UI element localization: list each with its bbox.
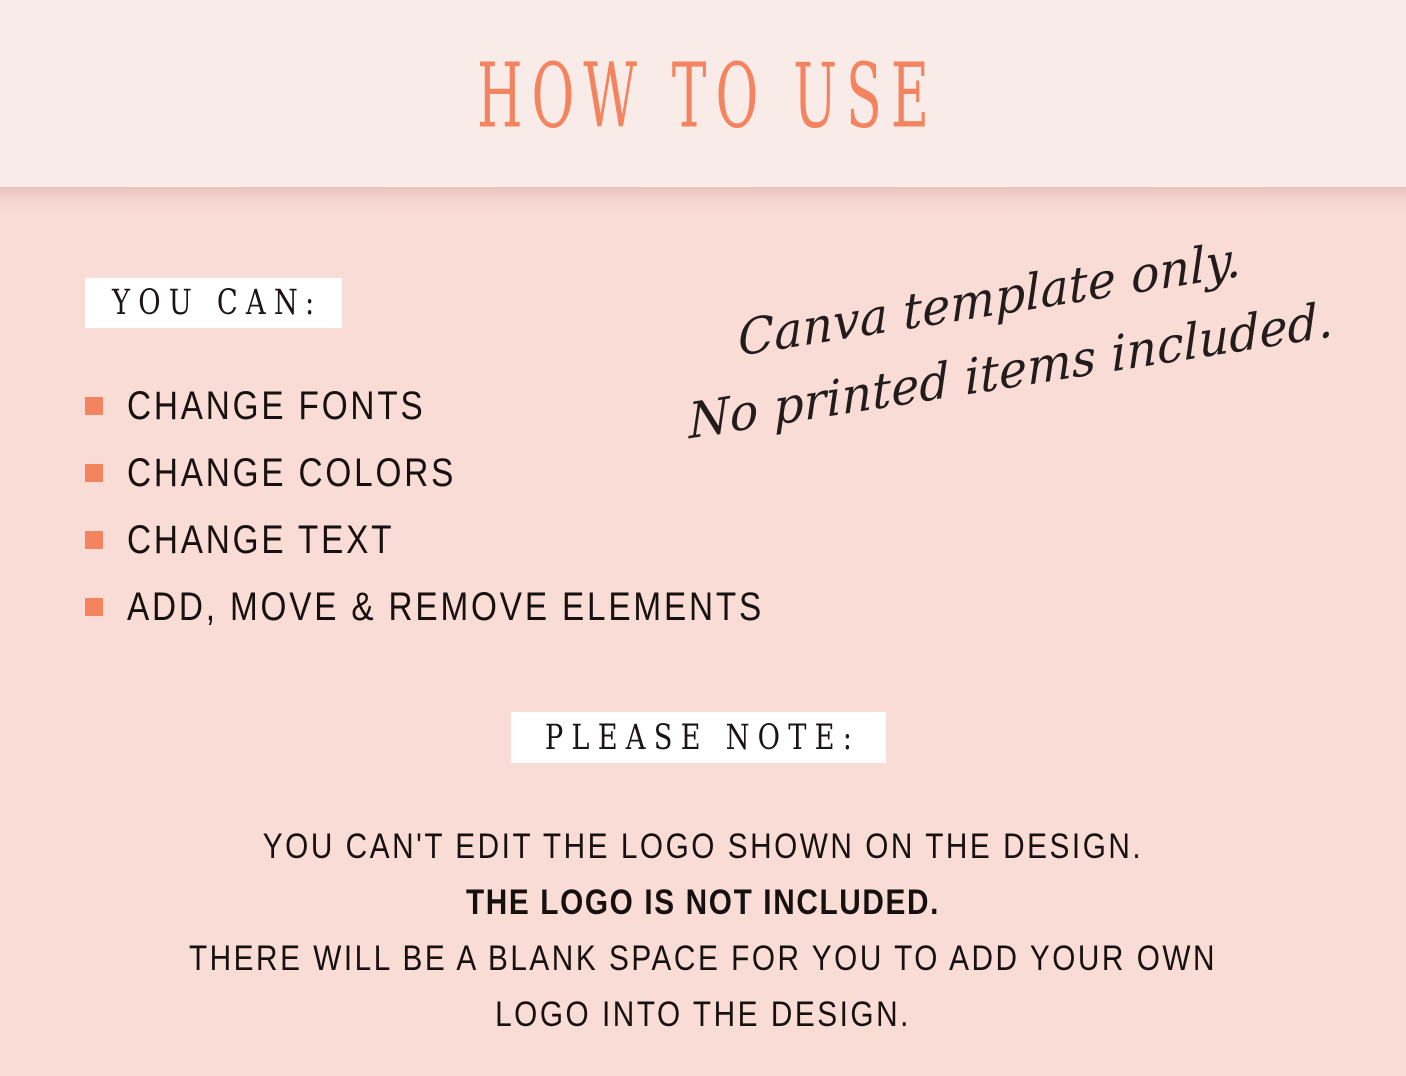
list-item-label: CHANGE TEXT bbox=[127, 517, 394, 562]
script-disclaimer: Canva template only. No printed items in… bbox=[732, 209, 1348, 449]
note-line: THERE WILL BE A BLANK SPACE FOR YOU TO A… bbox=[49, 927, 1357, 989]
you-can-label-box: YOU CAN: bbox=[85, 278, 342, 328]
square-bullet-icon bbox=[85, 397, 103, 415]
list-item-label: CHANGE FONTS bbox=[127, 383, 426, 428]
please-note-label: PLEASE NOTE: bbox=[537, 718, 861, 758]
note-line: LOGO INTO THE DESIGN. bbox=[49, 983, 1357, 1045]
square-bullet-icon bbox=[85, 531, 103, 549]
page-title: HOW TO USE bbox=[267, 43, 1139, 149]
square-bullet-icon bbox=[85, 464, 103, 482]
note-line-emphasis: THE LOGO IS NOT INCLUDED. bbox=[49, 871, 1357, 933]
list-item-label: ADD, MOVE & REMOVE ELEMENTS bbox=[127, 584, 764, 629]
note-line: YOU CAN'T EDIT THE LOGO SHOWN ON THE DES… bbox=[49, 815, 1357, 877]
list-item: CHANGE TEXT bbox=[85, 519, 845, 586]
square-bullet-icon bbox=[85, 598, 103, 616]
header-shadow-divider bbox=[0, 187, 1406, 213]
please-note-label-box: PLEASE NOTE: bbox=[511, 712, 886, 763]
you-can-label: YOU CAN: bbox=[104, 283, 323, 323]
list-item: CHANGE COLORS bbox=[85, 452, 845, 519]
please-note-body: YOU CAN'T EDIT THE LOGO SHOWN ON THE DES… bbox=[0, 818, 1406, 1042]
how-to-use-page: HOW TO USE YOU CAN: CHANGE FONTS CHANGE … bbox=[0, 0, 1406, 1076]
list-item-label: CHANGE COLORS bbox=[127, 450, 456, 495]
list-item: ADD, MOVE & REMOVE ELEMENTS bbox=[85, 586, 845, 653]
header-band: HOW TO USE bbox=[0, 0, 1406, 187]
